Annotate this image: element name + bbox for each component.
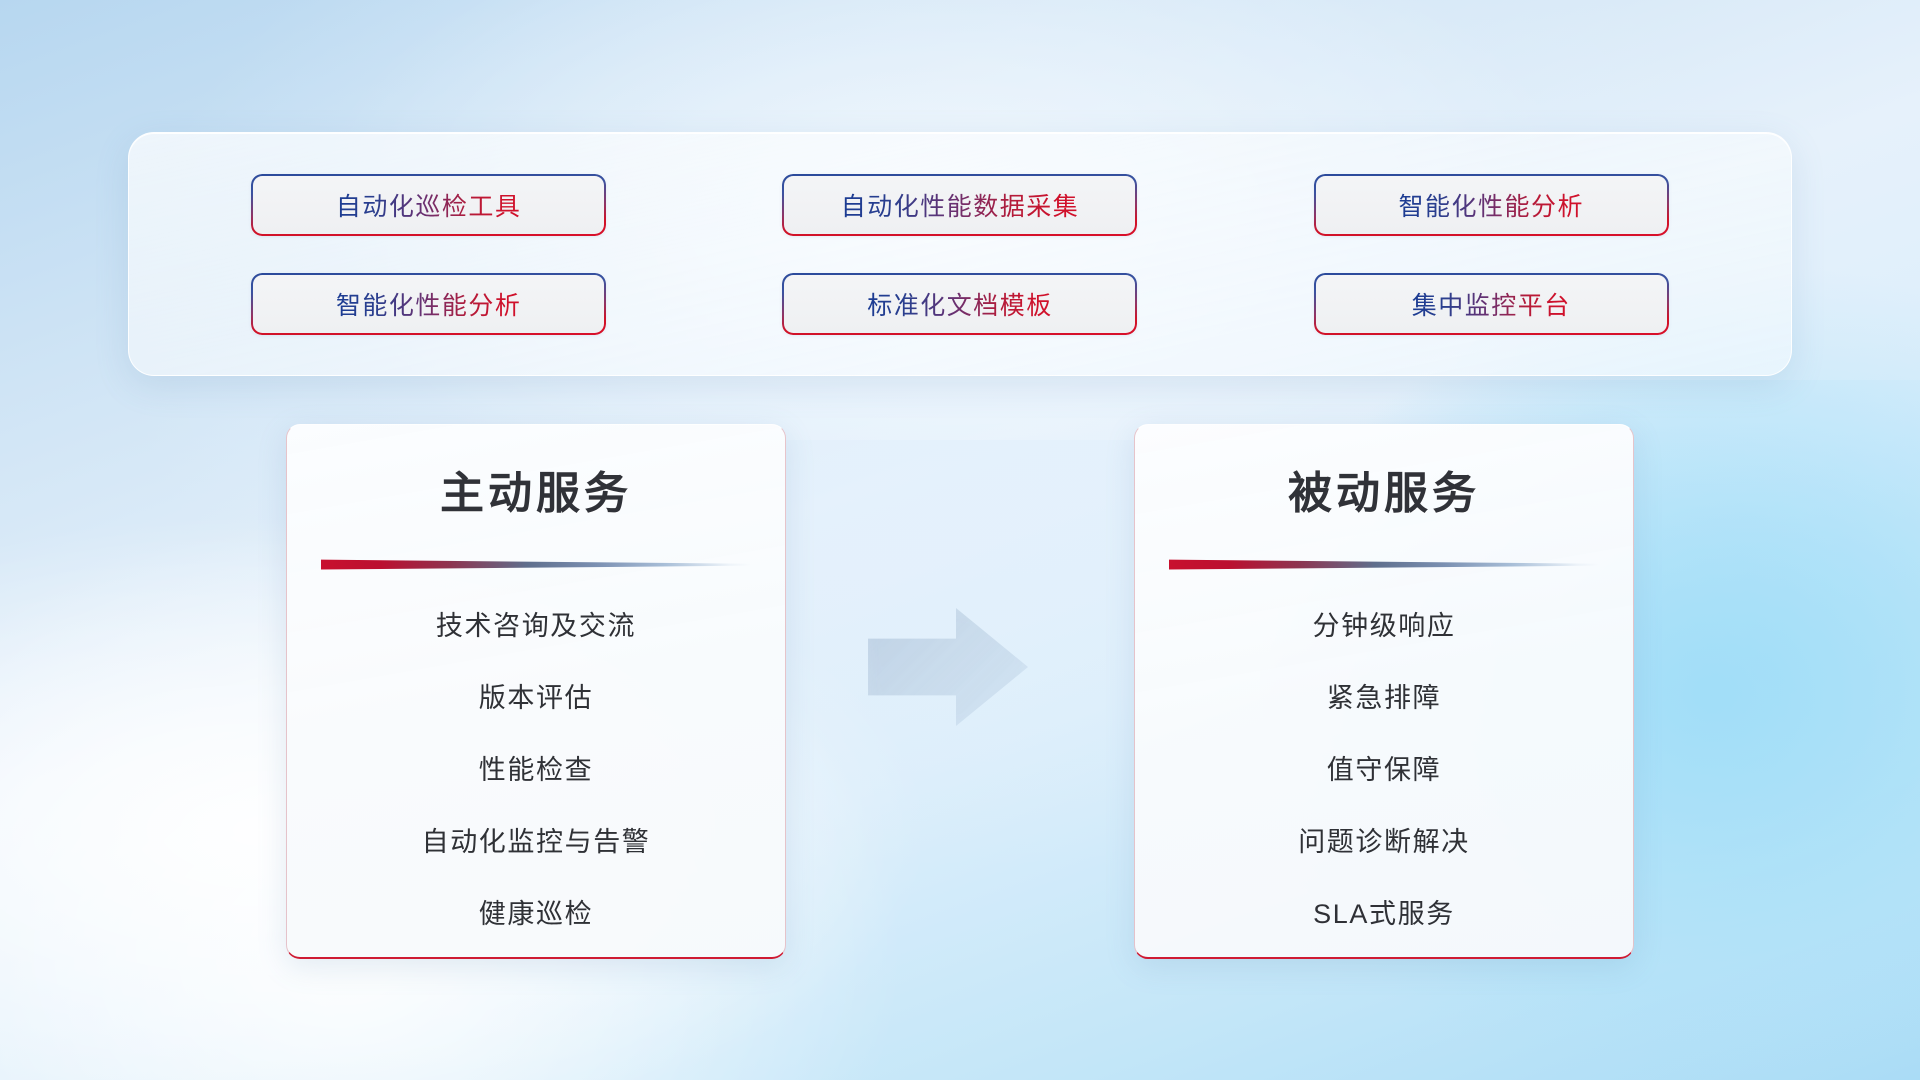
list-item: 性能检查: [287, 748, 785, 787]
service-card-active: 主动服务 技术咨询及交流 版本评估 性能检查 自动化监控与告警 健康巡检: [286, 424, 786, 959]
capabilities-grid: 自动化巡检工具 自动化性能数据采集 智能化性能分析 智能化性能分析 标准化文档模…: [129, 133, 1791, 375]
divider-gradient-bar: [1169, 558, 1599, 570]
card-title-active: 主动服务: [287, 457, 785, 521]
capability-label: 标准化文档模板: [867, 286, 1053, 322]
list-item: 值守保障: [1135, 748, 1633, 787]
service-card-passive: 被动服务 分钟级响应 紧急排障 值守保障 问题诊断解决 SLA式服务: [1134, 424, 1634, 959]
capabilities-panel: 自动化巡检工具 自动化性能数据采集 智能化性能分析 智能化性能分析 标准化文档模…: [128, 132, 1792, 376]
list-item: 紧急排障: [1135, 676, 1633, 715]
service-list-active: 技术咨询及交流 版本评估 性能检查 自动化监控与告警 健康巡检: [287, 604, 785, 931]
capability-label: 智能化性能分析: [336, 286, 522, 322]
list-item: SLA式服务: [1135, 892, 1633, 931]
list-item: 自动化监控与告警: [287, 820, 785, 859]
capability-pill-intelligent-perf-analysis-1[interactable]: 智能化性能分析: [1314, 174, 1669, 236]
capability-pill-standardized-doc-template[interactable]: 标准化文档模板: [782, 273, 1137, 335]
capability-pill-automated-inspection-tools[interactable]: 自动化巡检工具: [251, 174, 606, 236]
list-item: 分钟级响应: [1135, 604, 1633, 643]
card-title-passive: 被动服务: [1135, 457, 1633, 521]
divider-gradient-bar: [321, 558, 751, 570]
card-divider-active: [321, 558, 751, 570]
capability-label: 自动化性能数据采集: [841, 187, 1080, 223]
capability-label: 自动化巡检工具: [336, 187, 522, 223]
capability-pill-automated-perf-collection[interactable]: 自动化性能数据采集: [782, 174, 1137, 236]
list-item: 技术咨询及交流: [287, 604, 785, 643]
list-item: 健康巡检: [287, 892, 785, 931]
service-list-passive: 分钟级响应 紧急排障 值守保障 问题诊断解决 SLA式服务: [1135, 604, 1633, 931]
capability-label: 集中监控平台: [1412, 286, 1571, 322]
capability-label: 智能化性能分析: [1399, 187, 1585, 223]
list-item: 版本评估: [287, 676, 785, 715]
capability-pill-intelligent-perf-analysis-2[interactable]: 智能化性能分析: [251, 273, 606, 335]
card-divider-passive: [1169, 558, 1599, 570]
capability-pill-centralized-monitor-platform[interactable]: 集中监控平台: [1314, 273, 1669, 335]
slide-canvas: 自动化巡检工具 自动化性能数据采集 智能化性能分析 智能化性能分析 标准化文档模…: [0, 0, 1920, 1080]
arrow-right-icon: [868, 608, 1028, 726]
list-item: 问题诊断解决: [1135, 820, 1633, 859]
